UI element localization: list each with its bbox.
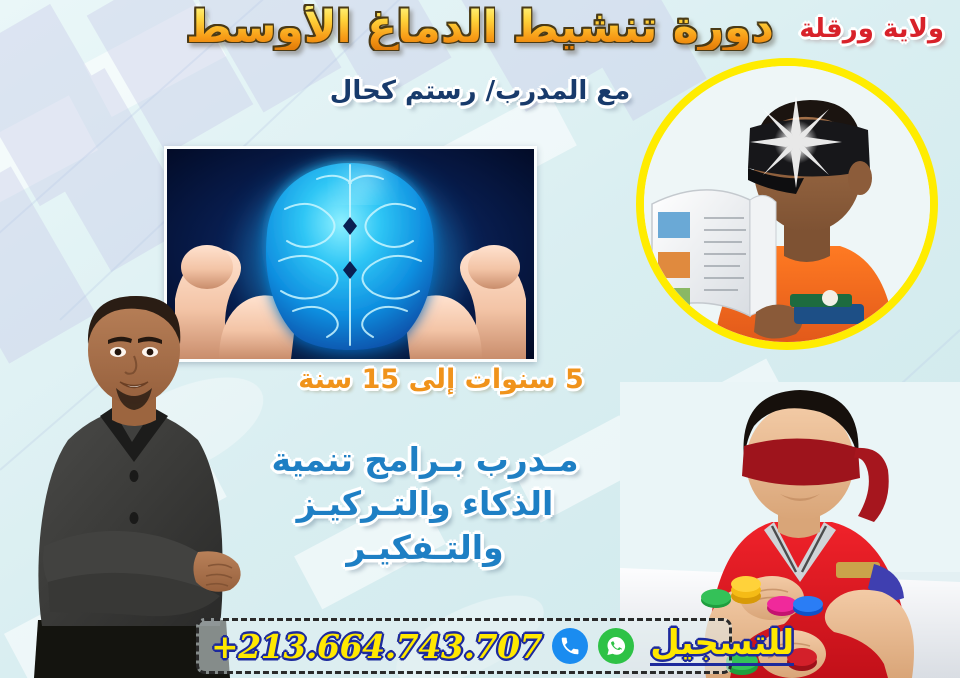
slogan-line-2: الذكاء والتـركيـز — [225, 482, 625, 526]
poster-canvas: دورة تنشيط الدماغ الأوسط مع المدرب/ رستم… — [0, 0, 960, 678]
slogan-block: مـدرب بـرامج تنمية الذكاء والتـركيـز وال… — [225, 438, 625, 571]
whatsapp-glyph — [604, 634, 628, 658]
blindfold-reading-illustration — [644, 66, 934, 346]
phone-icon[interactable] — [552, 628, 588, 664]
registration-contact-bar[interactable]: +213.664.743.707 للتسجيل — [196, 618, 732, 674]
phone-glyph — [559, 635, 581, 657]
blindfold-reading-photo — [636, 58, 938, 350]
slogan-line-1: مـدرب بـرامج تنمية — [225, 438, 625, 482]
whatsapp-icon[interactable] — [598, 628, 634, 664]
wilaya-badge: ولاية ورقلة — [799, 16, 944, 42]
phone-number-text[interactable]: +213.664.743.707 — [211, 627, 542, 666]
age-range-label: 5 سنوات إلى 15 سنة — [276, 366, 606, 393]
register-label[interactable]: للتسجيل — [650, 626, 794, 666]
slogan-line-3: والتـفكيـر — [225, 526, 625, 570]
